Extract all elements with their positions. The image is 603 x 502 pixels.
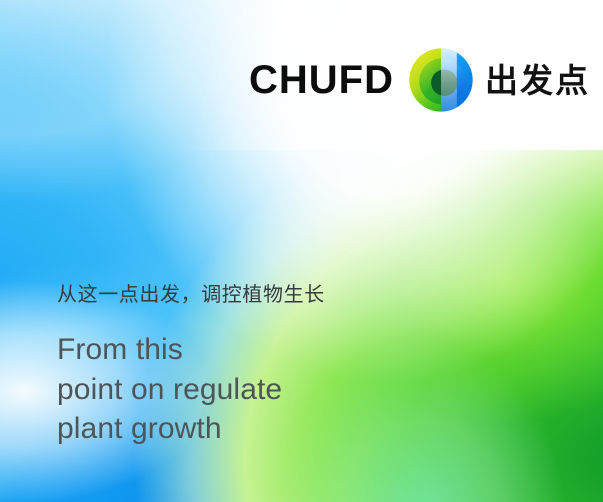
wordmark-chinese: 出发点 bbox=[485, 64, 590, 97]
brand-banner: CHUFD bbox=[0, 0, 603, 502]
logo-lockup: CHUFD bbox=[249, 47, 590, 113]
wordmark-chufd: CHUFD bbox=[249, 60, 394, 100]
tagline-english-line-1: From this bbox=[57, 330, 325, 370]
tagline-english-line-3: plant growth bbox=[57, 409, 325, 449]
tagline-english-line-2: point on regulate bbox=[57, 370, 325, 410]
chufd-circle-logo-icon bbox=[408, 47, 474, 113]
tagline-chinese: 从这一点出发，调控植物生长 bbox=[57, 283, 325, 308]
tagline-english: From this point on regulate plant growth bbox=[57, 330, 325, 449]
tagline-block: 从这一点出发，调控植物生长 From this point on regulat… bbox=[57, 283, 325, 449]
